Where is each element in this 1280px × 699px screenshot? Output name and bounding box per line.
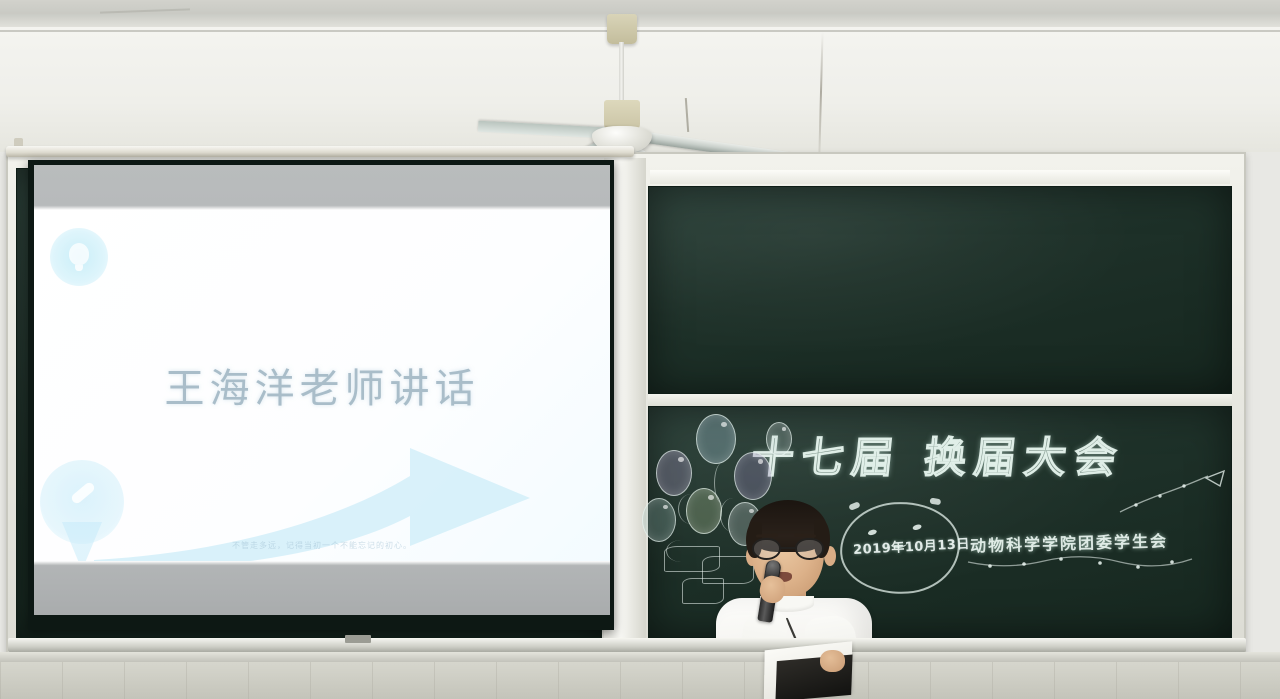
slide-title-text: 王海洋老师讲话	[34, 356, 610, 414]
slide-footnote-text: 不管走多远，记得当初一个不能忘记的初心。	[34, 540, 610, 551]
fan-downrod	[619, 42, 624, 106]
fan-ceiling-mount	[607, 14, 637, 44]
ledge-joint-bracket	[345, 635, 371, 643]
presenter-glasses	[752, 538, 824, 562]
glasses-bridge	[781, 547, 795, 549]
board-middle-strip	[648, 394, 1232, 406]
board-top-light-strip	[650, 170, 1230, 184]
presentation-slide: 王海洋老师讲话 不管走多远，记得当初一个不能忘记的初心。	[34, 210, 610, 561]
glasses-lens	[752, 538, 781, 560]
projection-screen[interactable]: 王海洋老师讲话 不管走多远，记得当初一个不能忘记的初心。	[34, 165, 610, 615]
blackboard-upper-right-panel	[648, 186, 1232, 394]
glasses-lens	[795, 538, 824, 560]
tiled-lower-wall	[0, 662, 1280, 699]
chalk-tray-ledge	[8, 638, 1246, 652]
presenter-right-hand	[820, 650, 845, 672]
screen-roller-bar[interactable]	[6, 146, 634, 157]
beam-shadow-line	[0, 30, 1280, 32]
institution-crest-watermark	[50, 228, 108, 286]
ceiling-slab	[0, 0, 1280, 30]
classroom-photo-scene: 十七届 换届大会 2019年10月13日 动物科学学院团委学生会	[0, 0, 1280, 699]
